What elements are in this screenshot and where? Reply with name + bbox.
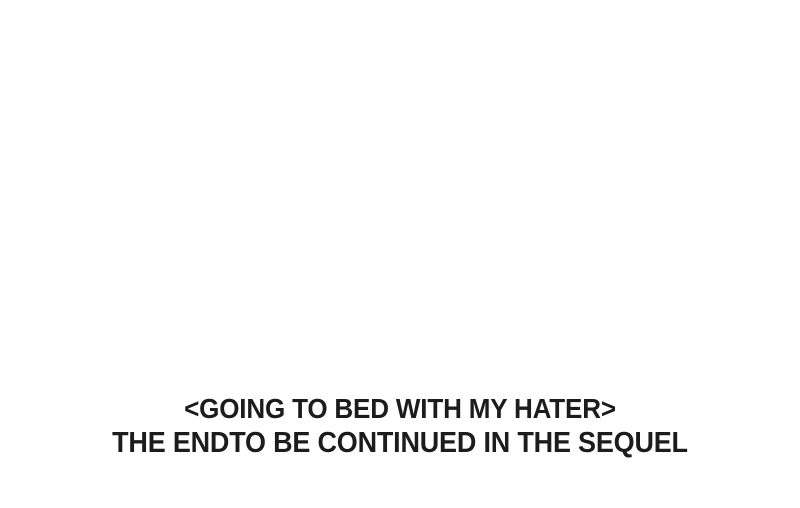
artwork-blank-area (0, 0, 800, 388)
series-title-line: <GOING TO BED WITH MY HATER> (28, 392, 772, 426)
end-continuation-note-line: THE ENDTO BE CONTINUED IN THE SEQUEL (28, 426, 772, 460)
end-card-text-block: <GOING TO BED WITH MY HATER> THE ENDTO B… (0, 392, 800, 460)
end-card-page: <GOING TO BED WITH MY HATER> THE ENDTO B… (0, 0, 800, 508)
